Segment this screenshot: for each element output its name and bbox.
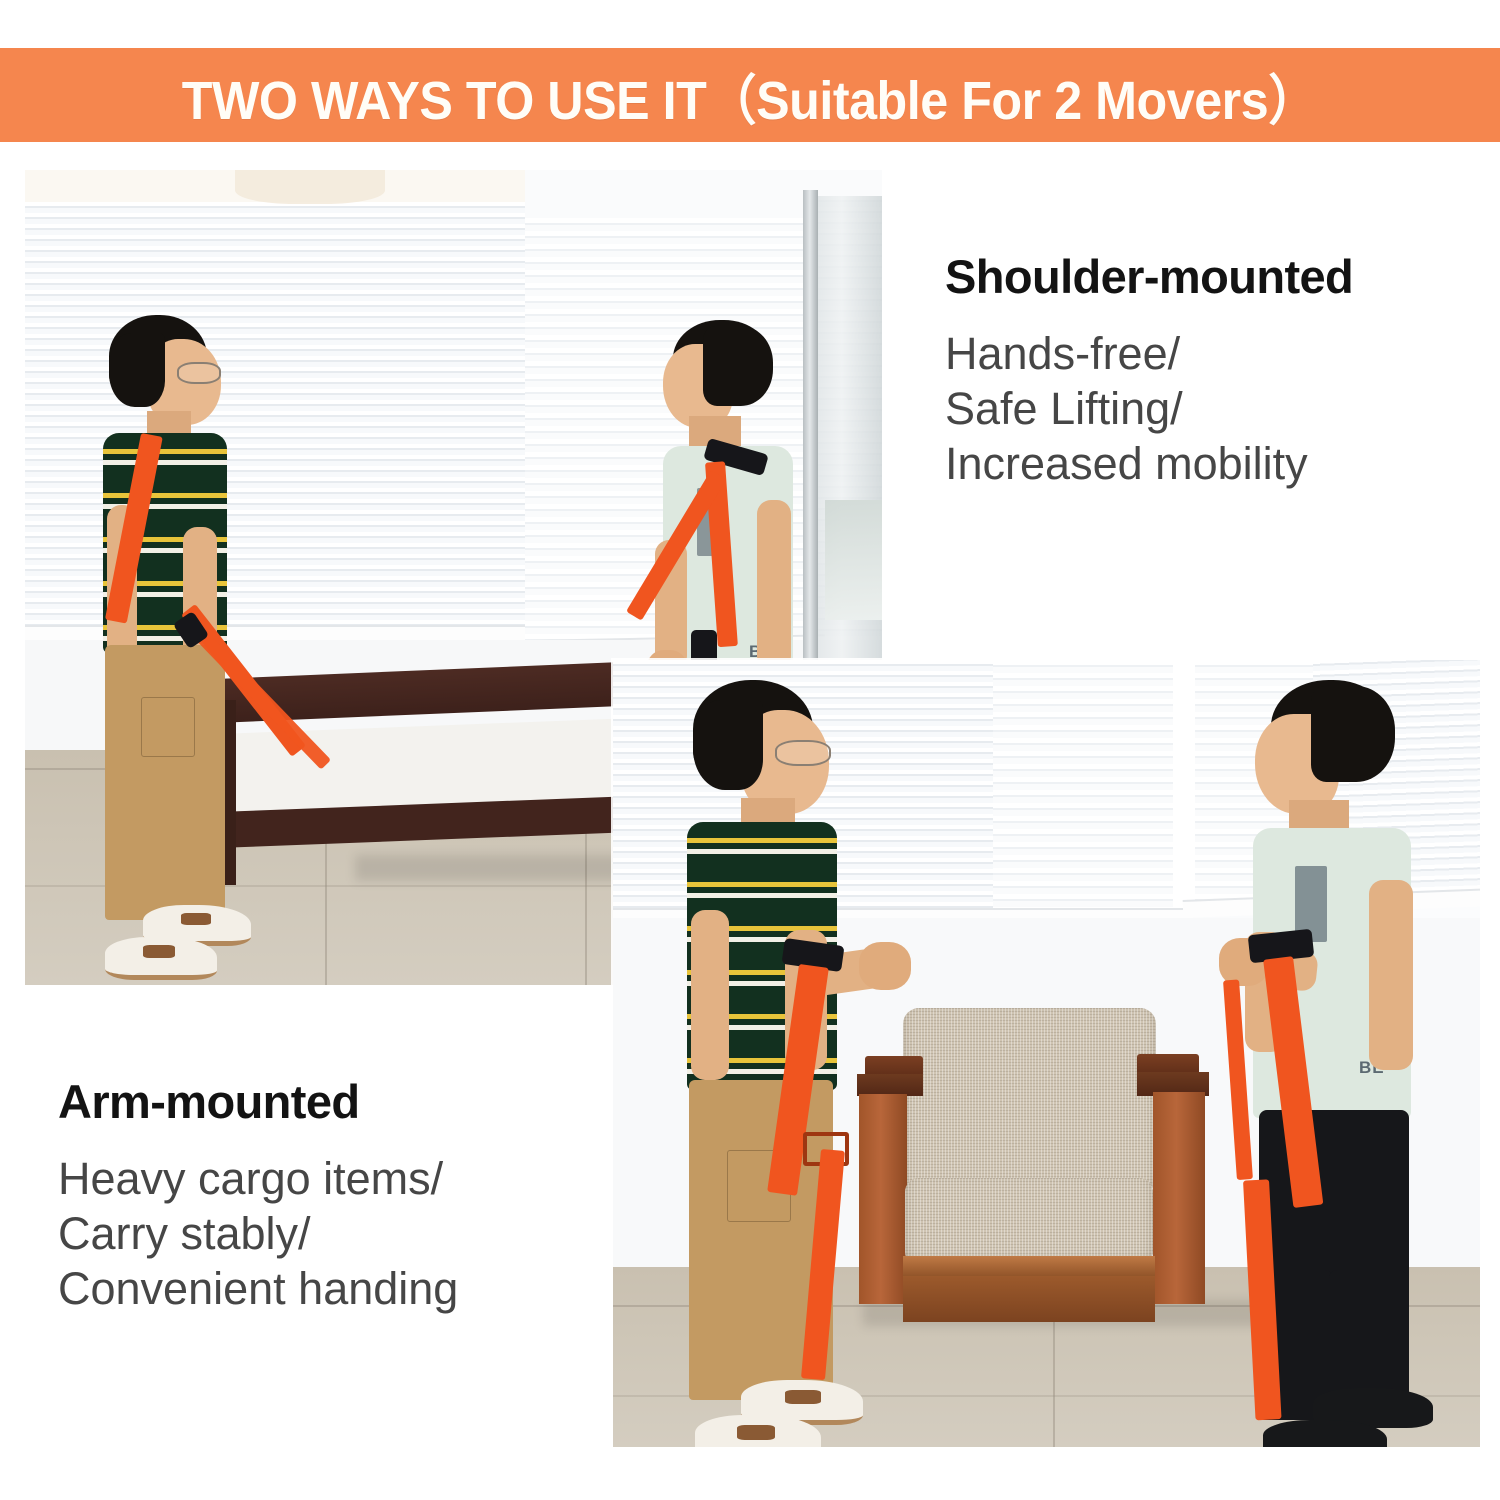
shoulder-heading: Shoulder-mounted [945,252,1353,301]
person-right-arm: BE [1201,680,1451,1440]
pant-leg-back [105,785,167,920]
arm-benefit-3: Convenient handing [58,1262,458,1317]
shoe-stripe-back [785,1390,821,1404]
blinds-gap [1173,660,1195,910]
chair-front-rail-top [903,1256,1155,1278]
pant-leg-front [163,785,225,925]
hair-back [703,326,773,406]
floor-tile-line-3 [1053,1305,1055,1447]
text-block-shoulder-mounted: Shoulder-mounted Hands-free/ Safe Liftin… [945,252,1353,492]
arm-benefit-2: Carry stably/ [58,1207,458,1262]
hair-back [109,333,165,407]
chair-front-rail [903,1276,1155,1322]
infographic-root: TWO WAYS TO USE IT（Suitable For 2 Movers… [0,0,1500,1500]
shoe-stripe-back [181,913,211,925]
chair-arm-right [1153,1092,1205,1304]
arm-heading: Arm-mounted [58,1077,458,1126]
hair-back [693,700,763,790]
glasses [177,362,221,384]
person-left-arm [663,680,923,1440]
shoe-stripe-front [143,945,175,958]
chair-back-cushion [903,1008,1156,1194]
text-block-arm-mounted: Arm-mounted Heavy cargo items/ Carry sta… [58,1077,458,1317]
shoulder-benefit-2: Safe Lifting/ [945,382,1353,437]
hair-back [1311,686,1395,782]
arm-far [757,500,791,670]
floor-tile-line-3 [585,810,587,985]
photo-arm-mounted: BE [613,660,1480,1447]
header-banner: TWO WAYS TO USE IT（Suitable For 2 Movers… [0,48,1500,142]
pant-leg-back [689,1240,763,1400]
cargo-pocket [141,697,195,757]
shoulder-benefit-1: Hands-free/ [945,327,1353,382]
ceiling-light-glow [235,170,385,204]
shoe-stripe-front [737,1425,775,1440]
clenched-hands [859,942,911,990]
shoulder-benefit-3: Increased mobility [945,437,1353,492]
arm-benefit-1: Heavy cargo items/ [58,1152,458,1207]
chair-seat-cushion [905,1178,1153,1266]
arm-far [1369,880,1413,1070]
shoe-front [105,937,217,980]
person-left-shoulder [85,315,315,985]
glasses [775,740,831,766]
banner-title: TWO WAYS TO USE IT（Suitable For 2 Movers… [182,56,1318,135]
arm-far [691,910,729,1080]
